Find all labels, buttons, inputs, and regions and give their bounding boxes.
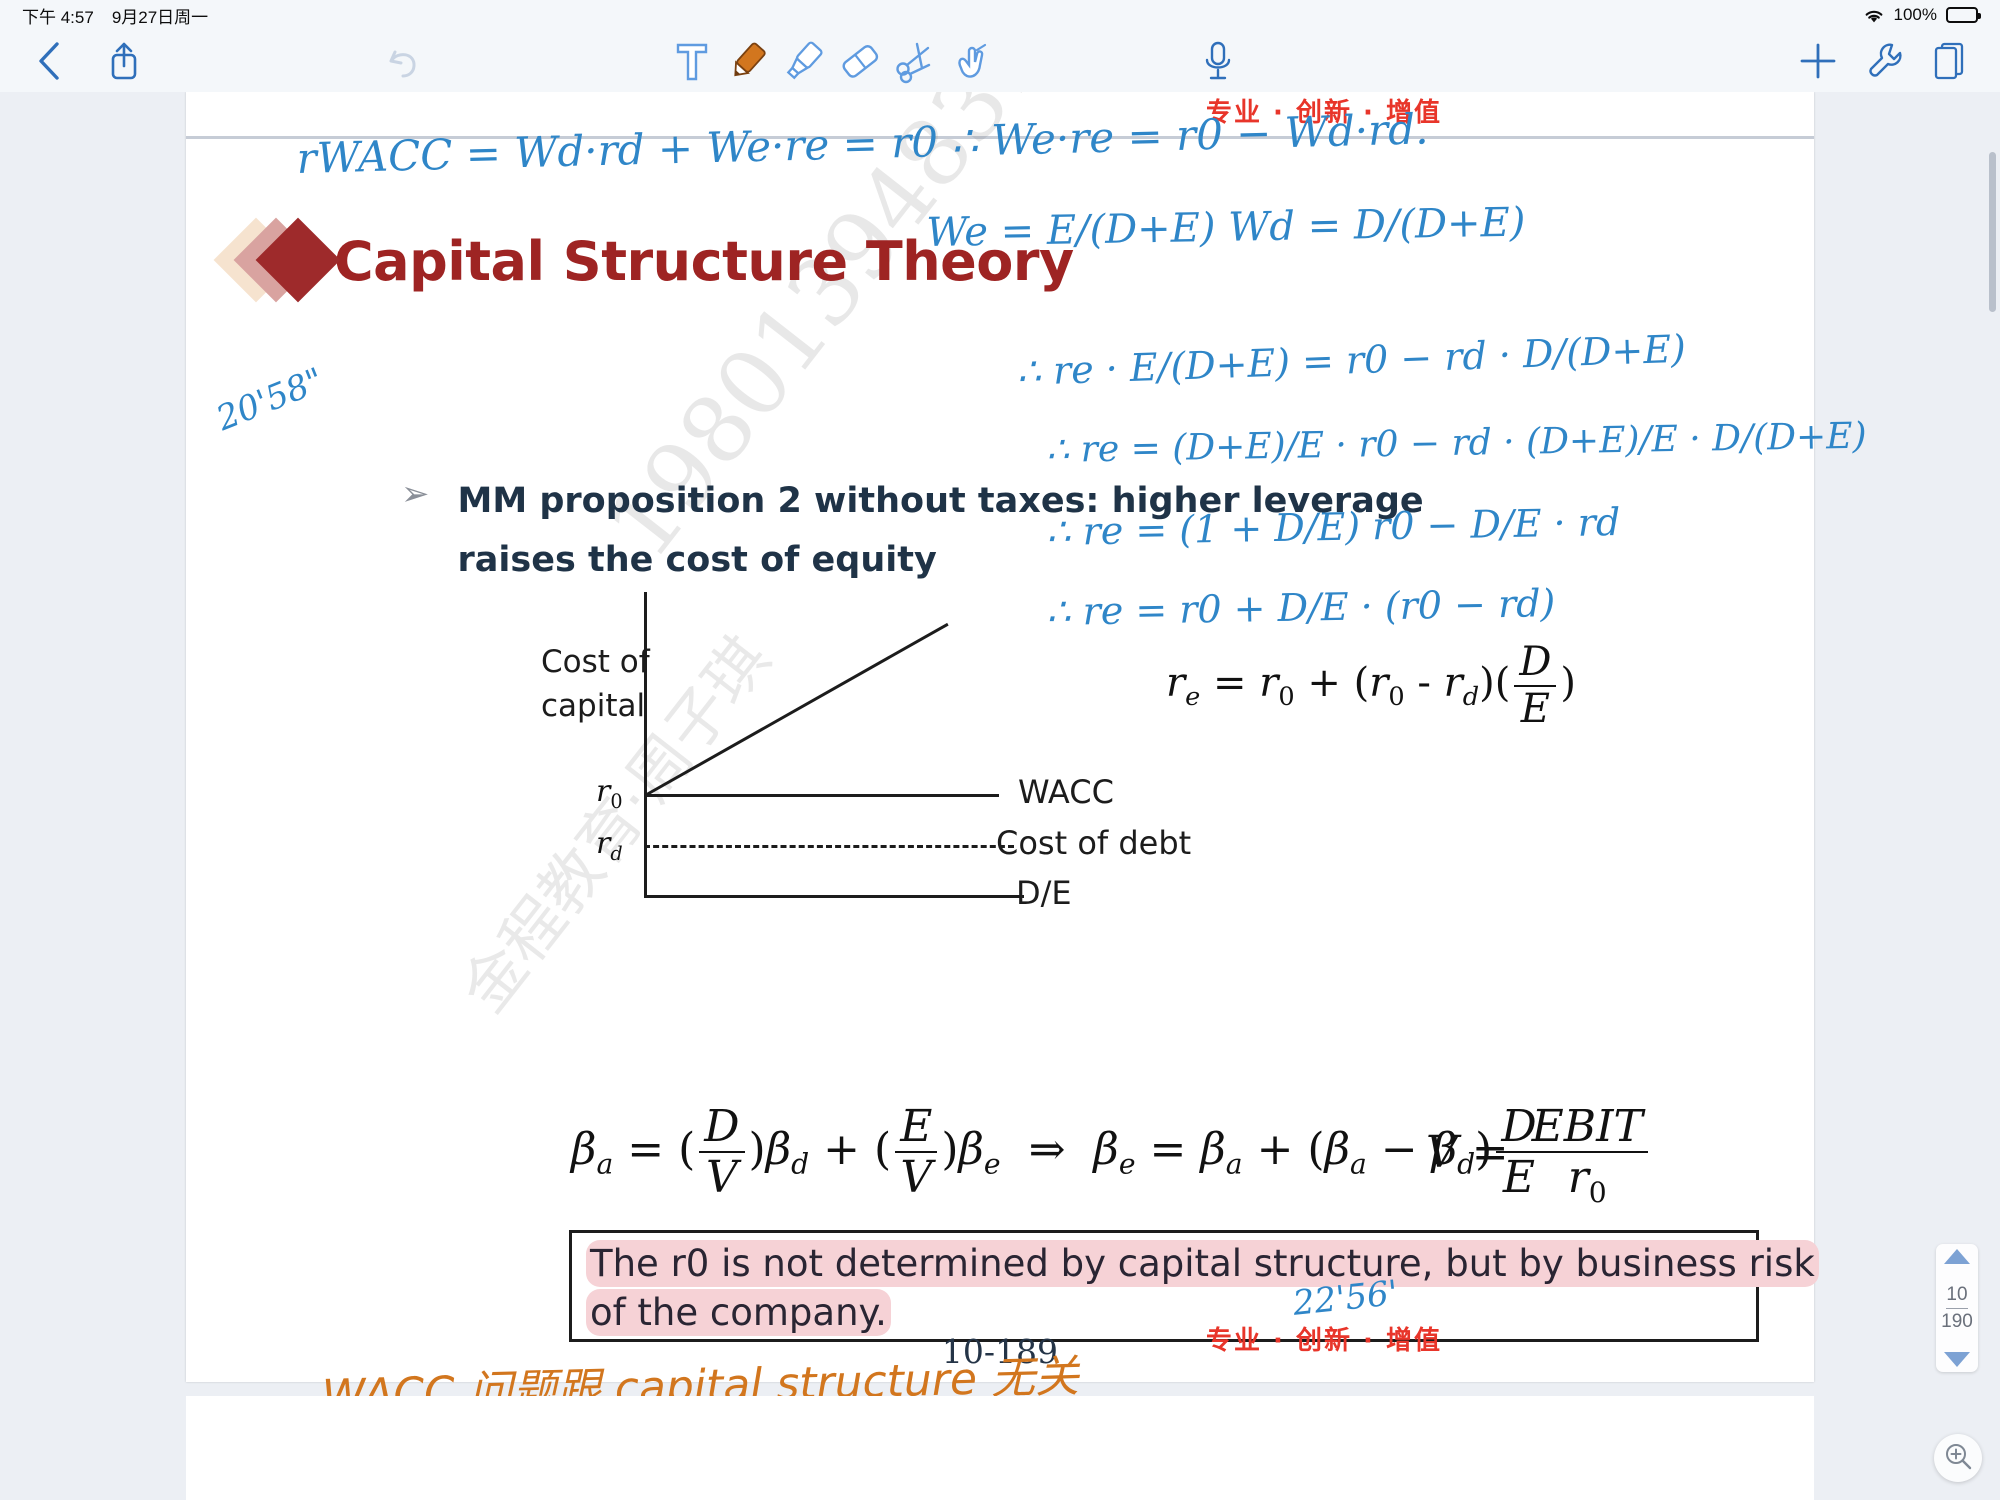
chart-y-axis xyxy=(644,592,647,897)
settings-button[interactable] xyxy=(1856,33,1912,89)
zoom-in-icon xyxy=(1943,1441,1973,1476)
brand-footer: 专业 · 创新 · 增值 xyxy=(1206,1320,1442,1357)
chart-ytick-r0: r0 xyxy=(596,774,623,813)
microphone-button[interactable] xyxy=(1190,33,1246,89)
pages-button[interactable] xyxy=(1922,33,1978,89)
hand-tool-icon xyxy=(949,38,995,84)
chart-series-cost-of-debt xyxy=(644,845,1014,848)
status-bar: 下午 4:57 9月27日周一 100% xyxy=(0,0,2000,30)
zoom-in-button[interactable] xyxy=(1934,1434,1982,1482)
document-canvas[interactable]: 专业 · 创新 · 增值 19801394831 金程教育·周子琪 Capita… xyxy=(0,92,2000,1500)
pages-icon xyxy=(1930,39,1970,83)
ink-annotation-step3: ∴ re = (1 + D/E) r0 − D/E · rd xyxy=(1046,500,1621,554)
status-bar-right: 100% xyxy=(1863,5,1978,25)
diamond-decoration-icon xyxy=(226,222,334,300)
microphone-icon xyxy=(1201,38,1235,84)
chart-x-axis-label: D/E xyxy=(1016,874,1072,912)
text-tool-icon xyxy=(674,39,710,83)
undo-icon xyxy=(384,42,424,80)
back-chevron-icon xyxy=(35,40,65,82)
status-time: 下午 4:57 xyxy=(22,3,94,28)
hand-tool-button[interactable] xyxy=(944,33,1000,89)
triangle-down-icon[interactable] xyxy=(1944,1352,1970,1367)
highlighter-tool-button[interactable] xyxy=(776,33,832,89)
undo-button[interactable] xyxy=(376,33,432,89)
pencil-tool-button[interactable] xyxy=(720,33,776,89)
ink-annotation-step1: ∴ re · E/(D+E) = r0 − rd · D/(D+E) xyxy=(1016,327,1687,394)
battery-full-icon xyxy=(1946,7,1978,23)
editor-toolbar xyxy=(0,30,2000,92)
wifi-icon xyxy=(1863,7,1885,24)
eraser-tool-icon xyxy=(837,38,883,84)
ink-annotation-step2: ∴ re = (D+E)/E · r0 − rd · (D+E)/E · D/(… xyxy=(1046,416,1867,471)
back-button[interactable] xyxy=(22,33,78,89)
add-button[interactable] xyxy=(1790,33,1846,89)
status-date: 9月27日周一 xyxy=(112,3,208,28)
highlighter-tool-icon xyxy=(781,38,827,84)
ink-annotation-top: rWACC = Wd·rd + We·re = r0 ∴ We·re = r0 … xyxy=(296,104,1429,183)
highlight-line-1: The r0 is not determined by capital stru… xyxy=(586,1239,1744,1288)
page-navigator[interactable]: 10 190 xyxy=(1936,1244,1978,1372)
status-bar-left: 下午 4:57 9月27日周一 xyxy=(22,3,208,28)
total-pages: 190 xyxy=(1941,1311,1973,1333)
chart-series-wacc xyxy=(644,794,999,797)
pencil-tool-icon xyxy=(725,38,771,84)
vertical-scrollbar[interactable] xyxy=(1989,152,1996,312)
plus-icon xyxy=(1797,40,1839,82)
chart-ytick-rd: rd xyxy=(596,826,623,865)
share-icon xyxy=(107,40,141,82)
bullet-arrow-icon: ➢ xyxy=(401,472,430,516)
highlight-box: The r0 is not determined by capital stru… xyxy=(569,1230,1759,1342)
wrench-icon xyxy=(1862,39,1906,83)
ink-annotation-step4: ∴ re = r0 + D/E · (r0 − rd) xyxy=(1046,581,1556,634)
ink-annotation-we-wd: We = E/(D+E) Wd = D/(D+E) xyxy=(926,200,1526,256)
chart-x-axis xyxy=(644,895,1024,898)
current-page: 10 xyxy=(1941,1284,1973,1306)
chart-series-re xyxy=(644,623,948,797)
eraser-tool-button[interactable] xyxy=(832,33,888,89)
formula-re: re = r0 + (r0 - rd)(DE) xyxy=(1166,640,1576,732)
next-page-edge[interactable] xyxy=(186,1396,1814,1500)
triangle-up-icon[interactable] xyxy=(1944,1249,1970,1264)
slide-page[interactable]: 专业 · 创新 · 增值 19801394831 金程教育·周子琪 Capita… xyxy=(186,92,1814,1382)
share-button[interactable] xyxy=(96,33,152,89)
highlight-line-2: of the company. xyxy=(586,1288,1744,1337)
chart-label-wacc: WACC xyxy=(1018,773,1114,811)
formula-beta: βa = (DV)βd + (EV)βe ⇒ βe = βa + (βa − β… xyxy=(571,1102,1546,1203)
chart-y-axis-label: Cost of capital xyxy=(541,640,681,728)
text-tool-button[interactable] xyxy=(664,33,720,89)
ink-timestamp-left: 20'58" xyxy=(211,360,329,439)
formula-value: V = EBITr0 xyxy=(1426,1102,1652,1209)
battery-percent-label: 100% xyxy=(1894,5,1937,25)
scissors-tool-button[interactable] xyxy=(888,33,944,89)
page-navigator-numbers: 10 190 xyxy=(1941,1284,1973,1333)
chart-label-cost-of-debt: Cost of debt xyxy=(996,824,1191,862)
scissors-tool-icon xyxy=(893,38,939,84)
